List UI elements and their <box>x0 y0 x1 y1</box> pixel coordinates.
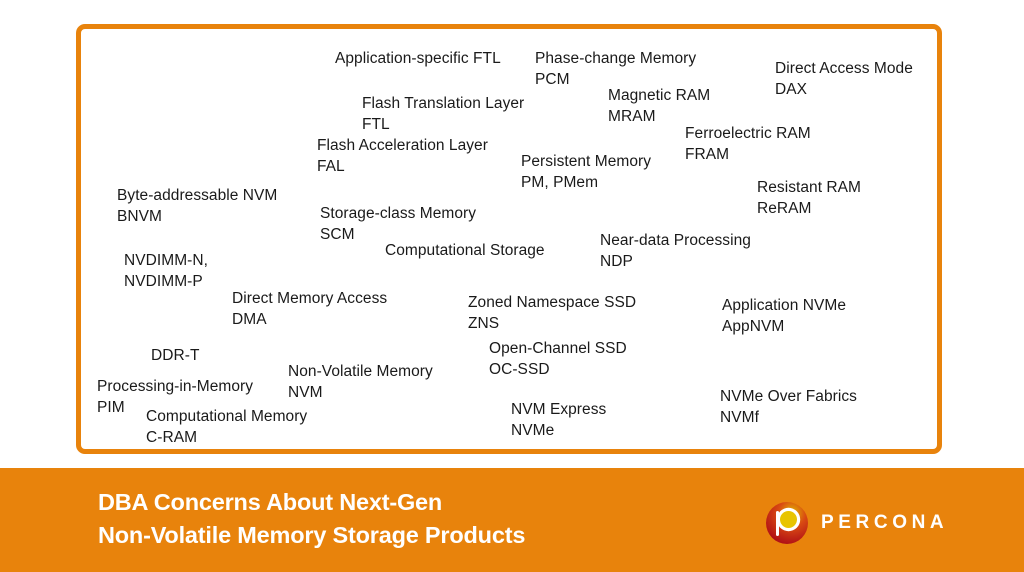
term-full-name: Phase-change Memory <box>535 48 696 69</box>
term-label: Ferroelectric RAMFRAM <box>685 123 811 165</box>
term-label: Resistant RAMReRAM <box>757 177 861 219</box>
term-abbreviation: NVDIMM-P <box>124 271 208 292</box>
term-abbreviation: NVMe <box>511 420 606 441</box>
term-label: Zoned Namespace SSDZNS <box>468 292 636 334</box>
term-abbreviation: ReRAM <box>757 198 861 219</box>
term-full-name: Computational Storage <box>385 240 545 261</box>
term-abbreviation: C-RAM <box>146 427 307 448</box>
term-abbreviation: NVM <box>288 382 433 403</box>
slide-canvas: Application-specific FTLPhase-change Mem… <box>0 0 1024 572</box>
term-abbreviation: PM, PMem <box>521 172 651 193</box>
term-full-name: NVM Express <box>511 399 606 420</box>
term-abbreviation: DMA <box>232 309 387 330</box>
term-label: Storage-class MemorySCM <box>320 203 476 245</box>
term-full-name: NVDIMM-N, <box>124 250 208 271</box>
term-full-name: NVMe Over Fabrics <box>720 386 857 407</box>
term-full-name: Storage-class Memory <box>320 203 476 224</box>
banner-title: DBA Concerns About Next-Gen Non-Volatile… <box>98 486 525 552</box>
term-label: Non-Volatile MemoryNVM <box>288 361 433 403</box>
term-label: Magnetic RAMMRAM <box>608 85 710 127</box>
term-full-name: Near-data Processing <box>600 230 751 251</box>
term-label: Flash Acceleration LayerFAL <box>317 135 488 177</box>
term-label: Computational Storage <box>385 240 545 261</box>
logo-p-bowl <box>780 511 797 528</box>
term-full-name: Byte-addressable NVM <box>117 185 277 206</box>
term-abbreviation: FRAM <box>685 144 811 165</box>
term-full-name: Open-Channel SSD <box>489 338 627 359</box>
term-label: Application NVMeAppNVM <box>722 295 846 337</box>
term-label: DDR-T <box>151 345 199 366</box>
percona-p-icon <box>766 502 808 544</box>
term-full-name: DDR-T <box>151 345 199 366</box>
term-label: Computational MemoryC-RAM <box>146 406 307 448</box>
banner-title-line2: Non-Volatile Memory Storage Products <box>98 519 525 552</box>
term-full-name: Persistent Memory <box>521 151 651 172</box>
term-abbreviation: ZNS <box>468 313 636 334</box>
term-abbreviation: BNVM <box>117 206 277 227</box>
term-label: Flash Translation LayerFTL <box>362 93 524 135</box>
term-full-name: Ferroelectric RAM <box>685 123 811 144</box>
term-abbreviation: FAL <box>317 156 488 177</box>
term-label: Application-specific FTL <box>335 48 501 69</box>
term-abbreviation: OC-SSD <box>489 359 627 380</box>
term-full-name: Direct Memory Access <box>232 288 387 309</box>
term-full-name: Flash Translation Layer <box>362 93 524 114</box>
term-abbreviation: NDP <box>600 251 751 272</box>
term-abbreviation: DAX <box>775 79 913 100</box>
term-full-name: Processing-in-Memory <box>97 376 253 397</box>
banner-title-line1: DBA Concerns About Next-Gen <box>98 489 442 515</box>
term-abbreviation: NVMf <box>720 407 857 428</box>
term-abbreviation: AppNVM <box>722 316 846 337</box>
percona-wordmark: PERCONA <box>821 512 948 534</box>
term-full-name: Flash Acceleration Layer <box>317 135 488 156</box>
term-full-name: Zoned Namespace SSD <box>468 292 636 313</box>
term-full-name: Direct Access Mode <box>775 58 913 79</box>
term-full-name: Computational Memory <box>146 406 307 427</box>
term-label: Direct Memory AccessDMA <box>232 288 387 330</box>
term-label: NVMe Over FabricsNVMf <box>720 386 857 428</box>
term-label: Phase-change MemoryPCM <box>535 48 696 90</box>
term-full-name: Magnetic RAM <box>608 85 710 106</box>
term-full-name: Application-specific FTL <box>335 48 501 69</box>
term-label: Byte-addressable NVMBNVM <box>117 185 277 227</box>
term-label: NVM ExpressNVMe <box>511 399 606 441</box>
term-full-name: Resistant RAM <box>757 177 861 198</box>
term-full-name: Application NVMe <box>722 295 846 316</box>
term-label: NVDIMM-N,NVDIMM-P <box>124 250 208 292</box>
logo-p-stem <box>776 511 779 536</box>
term-abbreviation: FTL <box>362 114 524 135</box>
term-label: Persistent MemoryPM, PMem <box>521 151 651 193</box>
percona-logo: PERCONA <box>766 500 946 546</box>
term-full-name: Non-Volatile Memory <box>288 361 433 382</box>
term-label: Near-data ProcessingNDP <box>600 230 751 272</box>
term-label: Direct Access ModeDAX <box>775 58 913 100</box>
term-label: Open-Channel SSDOC-SSD <box>489 338 627 380</box>
